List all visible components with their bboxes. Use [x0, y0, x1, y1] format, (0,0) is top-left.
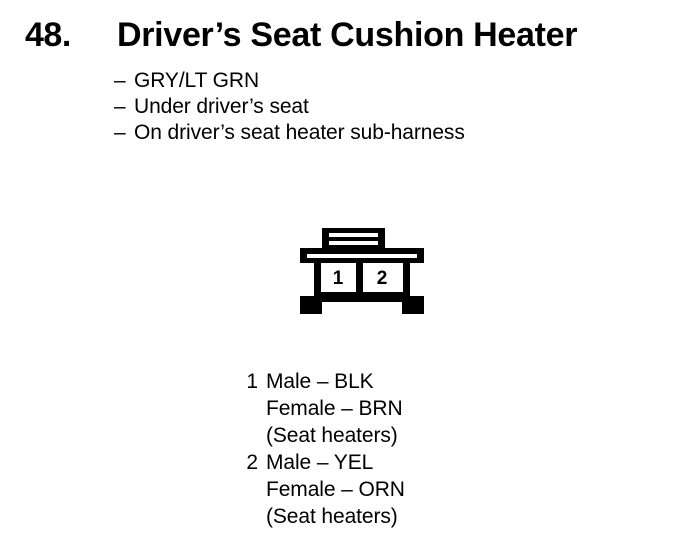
page-title: Driver’s Seat Cushion Heater [117, 13, 577, 57]
legend-line-male: Male – BLK [266, 368, 568, 395]
connector-illustration: 1 2 [286, 222, 438, 322]
legend-line-male: Male – YEL [266, 449, 568, 476]
legend-entry-pin-2: 2 Male – YEL Female – ORN (Seat heaters) [238, 449, 568, 530]
legend-line-note: (Seat heaters) [266, 503, 568, 530]
item-number: 48. [25, 13, 71, 57]
legend-entry-pin-1: 1 Male – BLK Female – BRN (Seat heaters) [238, 368, 568, 449]
legend-pin-2-lines: Male – YEL Female – ORN (Seat heaters) [266, 449, 568, 530]
dash-icon: – [114, 68, 134, 94]
detail-item-location: –Under driver’s seat [114, 94, 634, 120]
shell-top-bar [300, 248, 424, 254]
page-canvas: 48. Driver’s Seat Cushion Heater –GRY/LT… [0, 0, 688, 552]
cavity-label-1: 1 [333, 268, 344, 289]
detail-item-harness: –On driver’s seat heater sub-harness [114, 120, 634, 146]
legend-pin-number: 1 [238, 368, 258, 395]
legend-line-note: (Seat heaters) [266, 422, 568, 449]
connector-diagram: 1 2 [286, 222, 438, 322]
legend-line-female: Female – ORN [266, 476, 568, 503]
legend-pin-1-lines: Male – BLK Female – BRN (Seat heaters) [266, 368, 568, 449]
dash-icon: – [114, 94, 134, 120]
detail-item-label: Under driver’s seat [134, 95, 309, 118]
pin-legend: 1 Male – BLK Female – BRN (Seat heaters)… [238, 368, 568, 530]
detail-item-wire-color: –GRY/LT GRN [114, 68, 634, 94]
cavity-label-2: 2 [377, 268, 388, 289]
page-header: 48. Driver’s Seat Cushion Heater [0, 13, 688, 59]
dash-icon: – [114, 120, 134, 146]
cavity-divider [356, 263, 363, 297]
legend-line-female: Female – BRN [266, 395, 568, 422]
detail-item-label: On driver’s seat heater sub-harness [134, 121, 465, 144]
detail-list: –GRY/LT GRN –Under driver’s seat –On dri… [114, 68, 634, 146]
legend-pin-number: 2 [238, 449, 258, 476]
shell-bottom-rail [321, 292, 403, 298]
detail-item-label: GRY/LT GRN [134, 69, 259, 92]
